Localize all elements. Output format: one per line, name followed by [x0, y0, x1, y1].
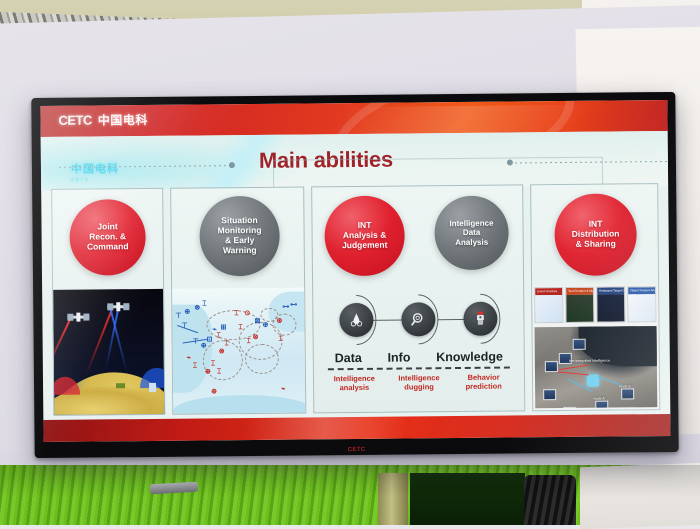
red-unit-symbol: ⊛	[276, 318, 282, 325]
display-screen: CETC 中国电科 中国电科 CETC Main abilities	[31, 92, 678, 458]
bubble-situation-monitoring[interactable]: Situation Monitoring & Early Warning	[199, 196, 280, 277]
ground-unit-b	[116, 383, 125, 388]
blue-unit-symbol: ⊕	[184, 309, 190, 316]
floor-shadow	[0, 465, 700, 525]
thumbnail-card[interactable]: Event structure	[534, 287, 563, 323]
blue-unit-symbol: ⊡	[207, 336, 213, 343]
cetc-logo-cn: 中国电科	[98, 111, 148, 128]
map-label-node-b: Node B	[619, 384, 631, 388]
flow-node-info[interactable]	[392, 293, 444, 345]
satellite-icon-2	[107, 305, 129, 308]
red-unit-symbol: ⌶	[211, 360, 215, 367]
map-node	[595, 401, 608, 409]
bubble-joint-recon-command[interactable]: Joint Recon. & Command	[69, 199, 146, 276]
sublabel-intelligence-analysis: Intelligence analysis	[324, 374, 384, 393]
red-unit-symbol: ⌶	[225, 340, 229, 347]
thumbnail-card[interactable]: Text Emotion & Alignment	[565, 287, 594, 323]
flow-node-data[interactable]	[330, 294, 382, 346]
sublabel-behavior-prediction: Behavior prediction	[454, 372, 514, 391]
thumbnail-card[interactable]: Object Feature Analytics	[627, 286, 656, 322]
dashboard-thumbnails: Event structure Text Emotion & Alignment…	[532, 284, 658, 325]
cetc-logo: CETC 中国电科	[58, 111, 148, 129]
tv-brand-logo: CETC	[348, 447, 366, 453]
panel-int-distribution[interactable]: INT Distribution & Sharing Event structu…	[530, 183, 660, 411]
map-label-node-a: Node A	[593, 397, 605, 401]
blue-unit-symbol: ⊠	[254, 318, 260, 325]
map-label-hub: Net-Integrated Intelligence	[569, 359, 610, 363]
red-unit-symbol: ⌶	[217, 368, 221, 375]
flow-labels: Data Info Knowledge	[320, 347, 518, 365]
watermark-cn-sub: CETC	[71, 176, 119, 181]
satellite-icon-1	[67, 316, 89, 319]
red-unit-symbol: ⊗	[253, 334, 259, 341]
bubble-int-distribution-sharing[interactable]: INT Distribution & Sharing	[554, 193, 637, 276]
panel3-bubble-area: INT Analysis & Judgement Intelligence Da…	[312, 185, 523, 287]
distribution-imagery: Event structure Text Emotion & Alignment…	[532, 284, 659, 410]
flow-sublabels: Intelligence analysis Intelligence duggi…	[320, 372, 518, 393]
red-unit-symbol: ⌶	[217, 332, 221, 339]
red-unit-symbol: ⊕	[205, 368, 211, 375]
bubble-int-analysis-judgement[interactable]: INT Analysis & Judgement	[324, 196, 405, 277]
map-node	[573, 339, 586, 350]
watermark-cn: 中国电科 CETC	[71, 160, 119, 181]
panel4-bubble-area: INT Distribution & Sharing	[531, 184, 658, 285]
red-unit-symbol: ⊙	[244, 310, 250, 317]
ops-ring-4	[245, 344, 279, 374]
map-node	[621, 388, 634, 399]
panel2-bubble-area: Situation Monitoring & Early Warning	[171, 187, 304, 288]
map-node	[563, 407, 576, 408]
decor-dot-left	[229, 162, 235, 168]
flow-label-knowledge: Knowledge	[436, 350, 503, 365]
blue-unit-symbol: ⊕	[201, 342, 207, 349]
flow-nodes	[319, 289, 518, 349]
red-unit-symbol: ⌶	[247, 338, 251, 345]
ground-unit-a	[149, 383, 156, 392]
red-unit-symbol: ⌁	[281, 386, 285, 393]
blue-unit-symbol: ⊞	[220, 324, 226, 331]
red-unit-symbol: ⌶	[234, 310, 238, 317]
blue-unit-symbol: ⊕	[262, 322, 268, 329]
ability-panels: Joint Recon. & Command	[51, 183, 660, 416]
flow-label-info: Info	[387, 350, 410, 364]
flow-label-data: Data	[335, 351, 362, 365]
map-node	[543, 389, 556, 400]
slide-footer-bar	[43, 414, 670, 442]
map-node	[545, 361, 558, 372]
thumbnail-card[interactable]: Relational Target Data	[596, 286, 625, 322]
presentation-slide: CETC 中国电科 中国电科 CETC Main abilities	[40, 100, 670, 442]
red-unit-symbol: ⌶	[238, 324, 242, 331]
data-info-knowledge-flow: Data Info Knowledge Intelligence analysi…	[313, 285, 524, 412]
thumbnail-body	[566, 295, 593, 322]
thumbnail-body	[597, 294, 624, 321]
red-unit-symbol: ⌶	[279, 336, 283, 343]
blue-unit-symbol: ⊤	[193, 339, 199, 346]
red-link	[559, 365, 589, 370]
red-unit-symbol: ⌶	[193, 363, 197, 370]
red-link	[557, 371, 589, 375]
blue-unit-symbol: ⊷	[290, 302, 297, 309]
red-unit-symbol: ⌁	[187, 355, 191, 362]
satellite-earth-illustration	[53, 289, 164, 415]
cetc-logo-en: CETC	[58, 113, 92, 128]
tactical-situation-map: ⊤ ⊕ ⊤ ⊗ ⌶ ⊤ ⊕ ⊡ ⌁ ⊞ ⊠ ⊕ ⊶ ⊷ ⌶ ⌶ ⊗	[172, 287, 305, 413]
sublabel-intelligence-dugging: Intelligence dugging	[389, 373, 449, 392]
thumbnail-body	[628, 294, 655, 321]
thumbnail-body	[535, 295, 562, 322]
panel1-bubble-area: Joint Recon. & Command	[52, 189, 163, 290]
red-beam-1	[53, 318, 71, 377]
watermark-cn-text: 中国电科	[71, 163, 119, 175]
blue-unit-symbol: ⊤	[175, 313, 181, 320]
red-coverage-dome	[53, 377, 80, 395]
panel-int-analysis[interactable]: INT Analysis & Judgement Intelligence Da…	[311, 184, 525, 413]
blue-unit-symbol: ⊗	[194, 304, 200, 311]
red-unit-symbol: ⊗	[219, 348, 225, 355]
satellite-network-map: Net-Integrated Intelligence Node A Node …	[535, 326, 658, 408]
panel-situation-monitoring[interactable]: Situation Monitoring & Early Warning ⊤	[170, 186, 306, 414]
flow-divider	[328, 367, 510, 371]
blue-unit-symbol: ⊤	[181, 323, 187, 330]
bubble-intelligence-data-analysis[interactable]: Intelligence Data Analysis	[434, 196, 509, 271]
blue-unit-symbol: ⌶	[202, 300, 206, 307]
red-unit-symbol: ⊕	[211, 388, 217, 395]
coastline-south	[173, 394, 305, 413]
panel-joint-recon-command[interactable]: Joint Recon. & Command	[51, 188, 165, 416]
blue-unit-symbol: ⊶	[282, 304, 289, 311]
flow-node-knowledge[interactable]	[454, 293, 506, 345]
